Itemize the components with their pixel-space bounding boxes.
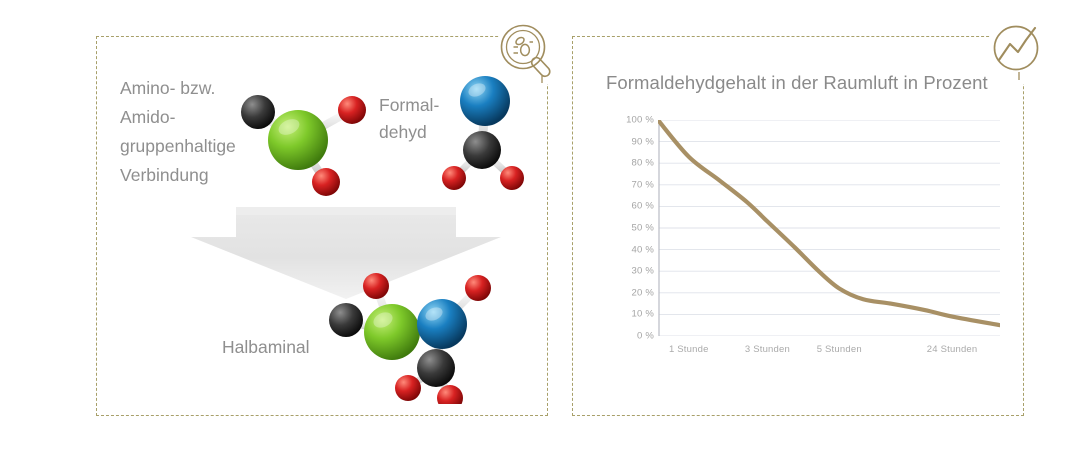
y-axis-tick-label: 90 % bbox=[608, 136, 654, 147]
y-axis-tick-label: 70 % bbox=[608, 179, 654, 190]
product-label: Halbaminal bbox=[222, 337, 310, 358]
series-group bbox=[658, 120, 1000, 325]
y-axis-tick-label: 100 % bbox=[608, 115, 654, 126]
y-axis-tick-label: 40 % bbox=[608, 244, 654, 255]
x-axis-tick-label: 3 Stunden bbox=[745, 344, 790, 355]
slide-canvas: Amino- bzw. Amido- gruppenhaltige Verbin… bbox=[0, 0, 1080, 462]
y-axis: 100 %90 %80 %70 %60 %50 %40 %30 %20 %10 … bbox=[600, 120, 654, 375]
chart: 100 %90 %80 %70 %60 %50 %40 %30 %20 %10 … bbox=[600, 120, 1000, 375]
x-axis-tick-label: 24 Stunden bbox=[927, 344, 978, 355]
trend-chart-circle-icon bbox=[988, 20, 1050, 82]
y-axis-tick-label: 0 % bbox=[608, 331, 654, 342]
chart-title: Formaldehydgehalt in der Raumluft in Pro… bbox=[606, 72, 988, 94]
gridlines bbox=[659, 120, 1000, 336]
y-axis-tick-label: 30 % bbox=[608, 266, 654, 277]
x-axis-tick-label: 5 Stunden bbox=[817, 344, 862, 355]
molecule-halbaminal bbox=[322, 272, 512, 404]
y-axis-tick-label: 50 % bbox=[608, 223, 654, 234]
series-line bbox=[658, 120, 1000, 325]
molecule-formaldehyde bbox=[432, 66, 538, 192]
molecule-amine-compound bbox=[236, 82, 376, 196]
y-axis-tick-label: 20 % bbox=[608, 287, 654, 298]
y-axis-tick-label: 80 % bbox=[608, 158, 654, 169]
x-axis-tick-label: 1 Stunde bbox=[669, 344, 709, 355]
plot-area bbox=[658, 120, 1000, 336]
y-axis-tick-label: 60 % bbox=[608, 201, 654, 212]
y-axis-tick-label: 10 % bbox=[608, 309, 654, 320]
x-axis: 1 Stunde3 Stunden5 Stunden24 Stunden bbox=[658, 344, 1000, 364]
